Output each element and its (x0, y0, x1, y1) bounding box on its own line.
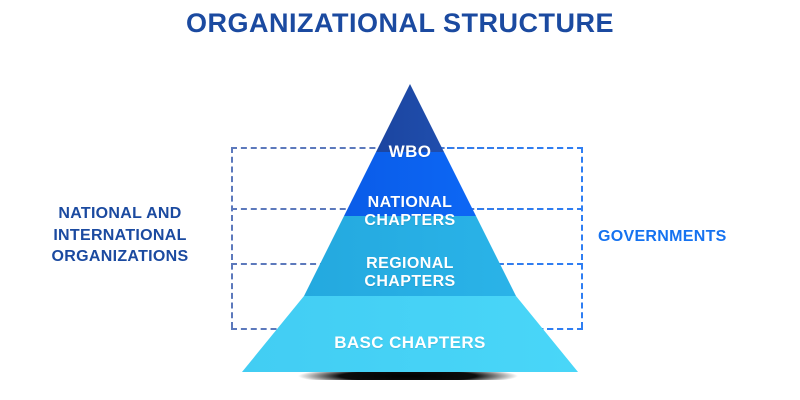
pyramid-tier-2-label: NATIONAL CHAPTERS (300, 194, 520, 230)
diagram-canvas: ORGANIZATIONAL STRUCTURE (0, 0, 800, 400)
pyramid-tier-3-label: REGIONAL CHAPTERS (290, 255, 530, 291)
right-annotation-label: GOVERNMENTS (598, 226, 798, 248)
pyramid-tier-4-label: BASC CHAPTERS (260, 333, 560, 352)
left-annotation-label: NATIONAL AND INTERNATIONAL ORGANIZATIONS (20, 203, 220, 268)
pyramid-tier-1-label: WBO (330, 142, 490, 161)
page-title: ORGANIZATIONAL STRUCTURE (0, 8, 800, 39)
